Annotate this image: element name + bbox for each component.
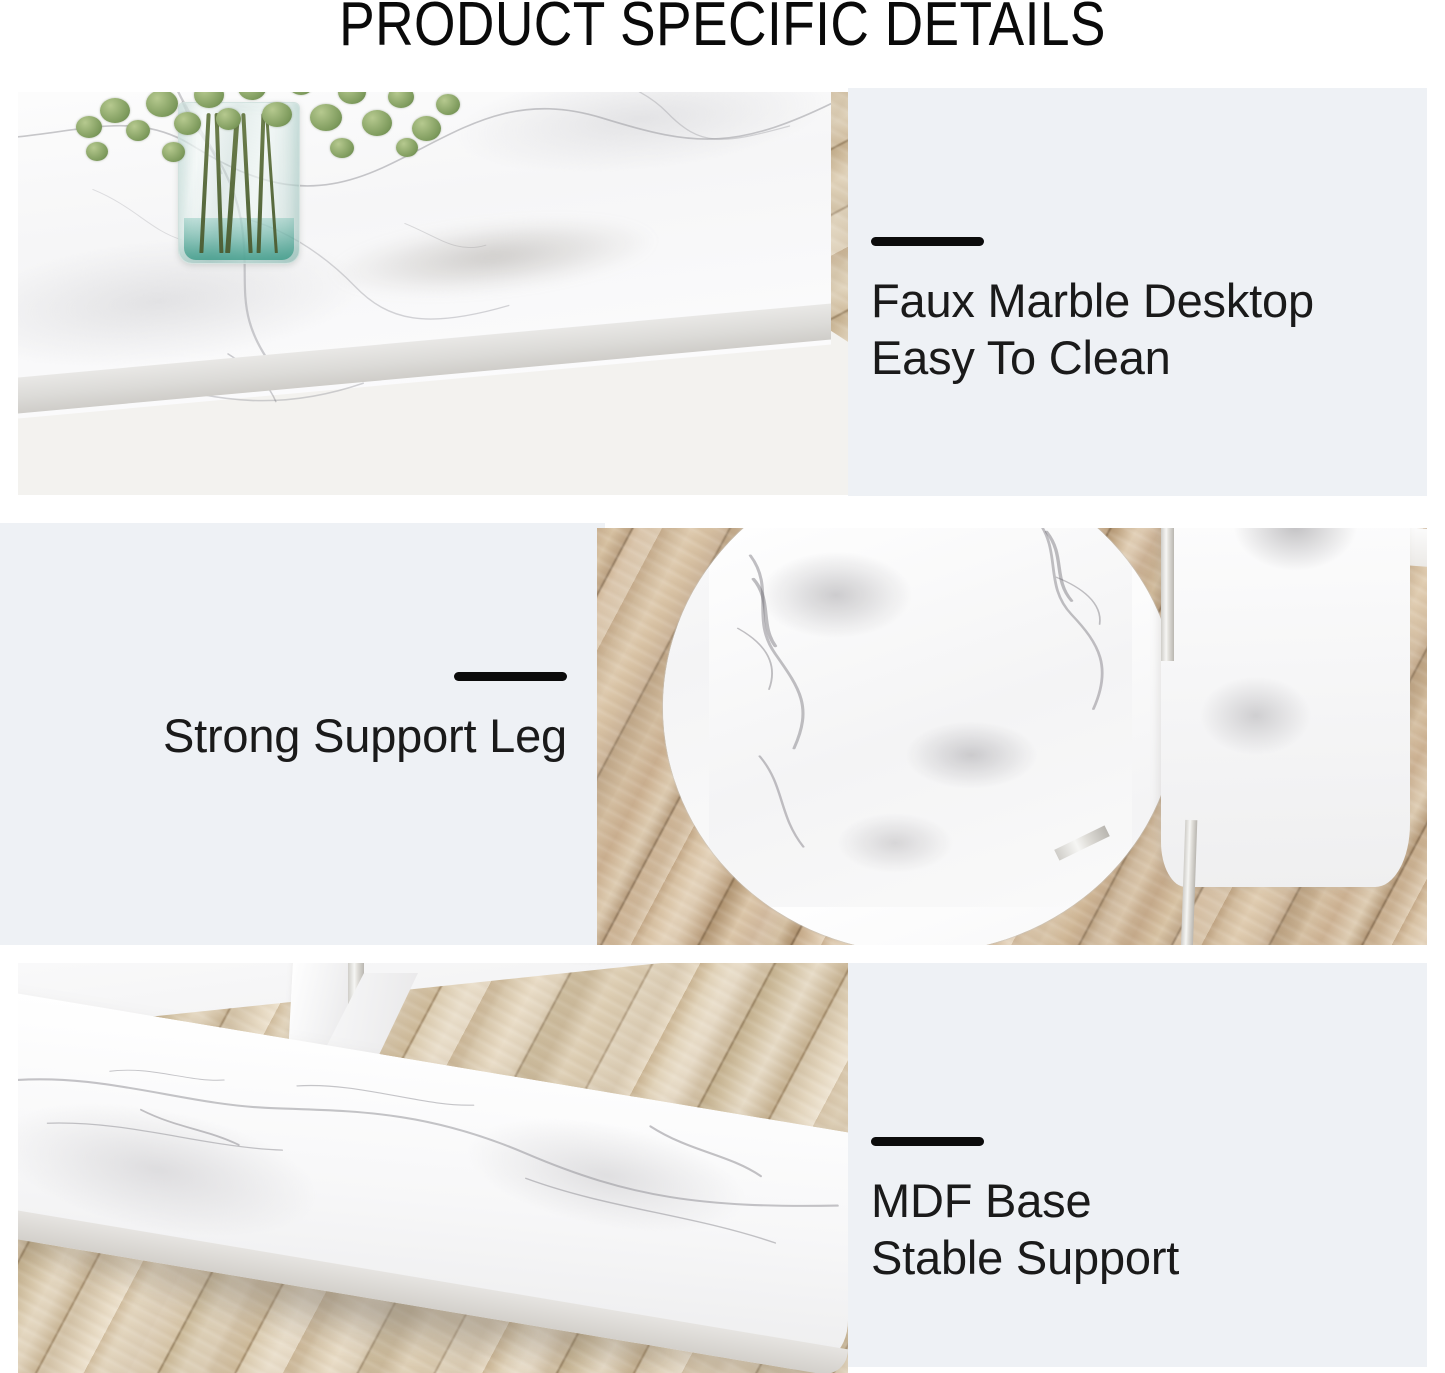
product-photo-faux-marble-desktop (18, 92, 848, 495)
leg-marble-veining (663, 528, 1178, 945)
caption-text: Faux Marble Desktop Easy To Clean (871, 272, 1391, 386)
eucalyptus-foliage (66, 92, 466, 196)
accent-rule (454, 672, 567, 681)
accent-rule (871, 1137, 984, 1146)
product-photo-strong-support-leg (597, 528, 1427, 945)
feature-panel-faux-marble-desktop: Faux Marble Desktop Easy To Clean (0, 88, 1445, 498)
accent-rule (871, 237, 984, 246)
right-support-post (1161, 528, 1410, 887)
chrome-accent-strip (1161, 528, 1174, 661)
page-title: PRODUCT SPECIFIC DETAILS (101, 0, 1344, 56)
product-photo-mdf-base (18, 963, 848, 1373)
caption-faux-marble-desktop: Faux Marble Desktop Easy To Clean (871, 237, 1391, 386)
caption-text: Strong Support Leg (47, 707, 567, 764)
feature-panel-mdf-base: MDF Base Stable Support (0, 963, 1445, 1373)
caption-text: MDF Base Stable Support (871, 1172, 1391, 1286)
caption-strong-support-leg: Strong Support Leg (47, 672, 567, 764)
caption-mdf-base: MDF Base Stable Support (871, 1137, 1391, 1286)
feature-panel-strong-support-leg: Strong Support Leg (0, 522, 1445, 946)
